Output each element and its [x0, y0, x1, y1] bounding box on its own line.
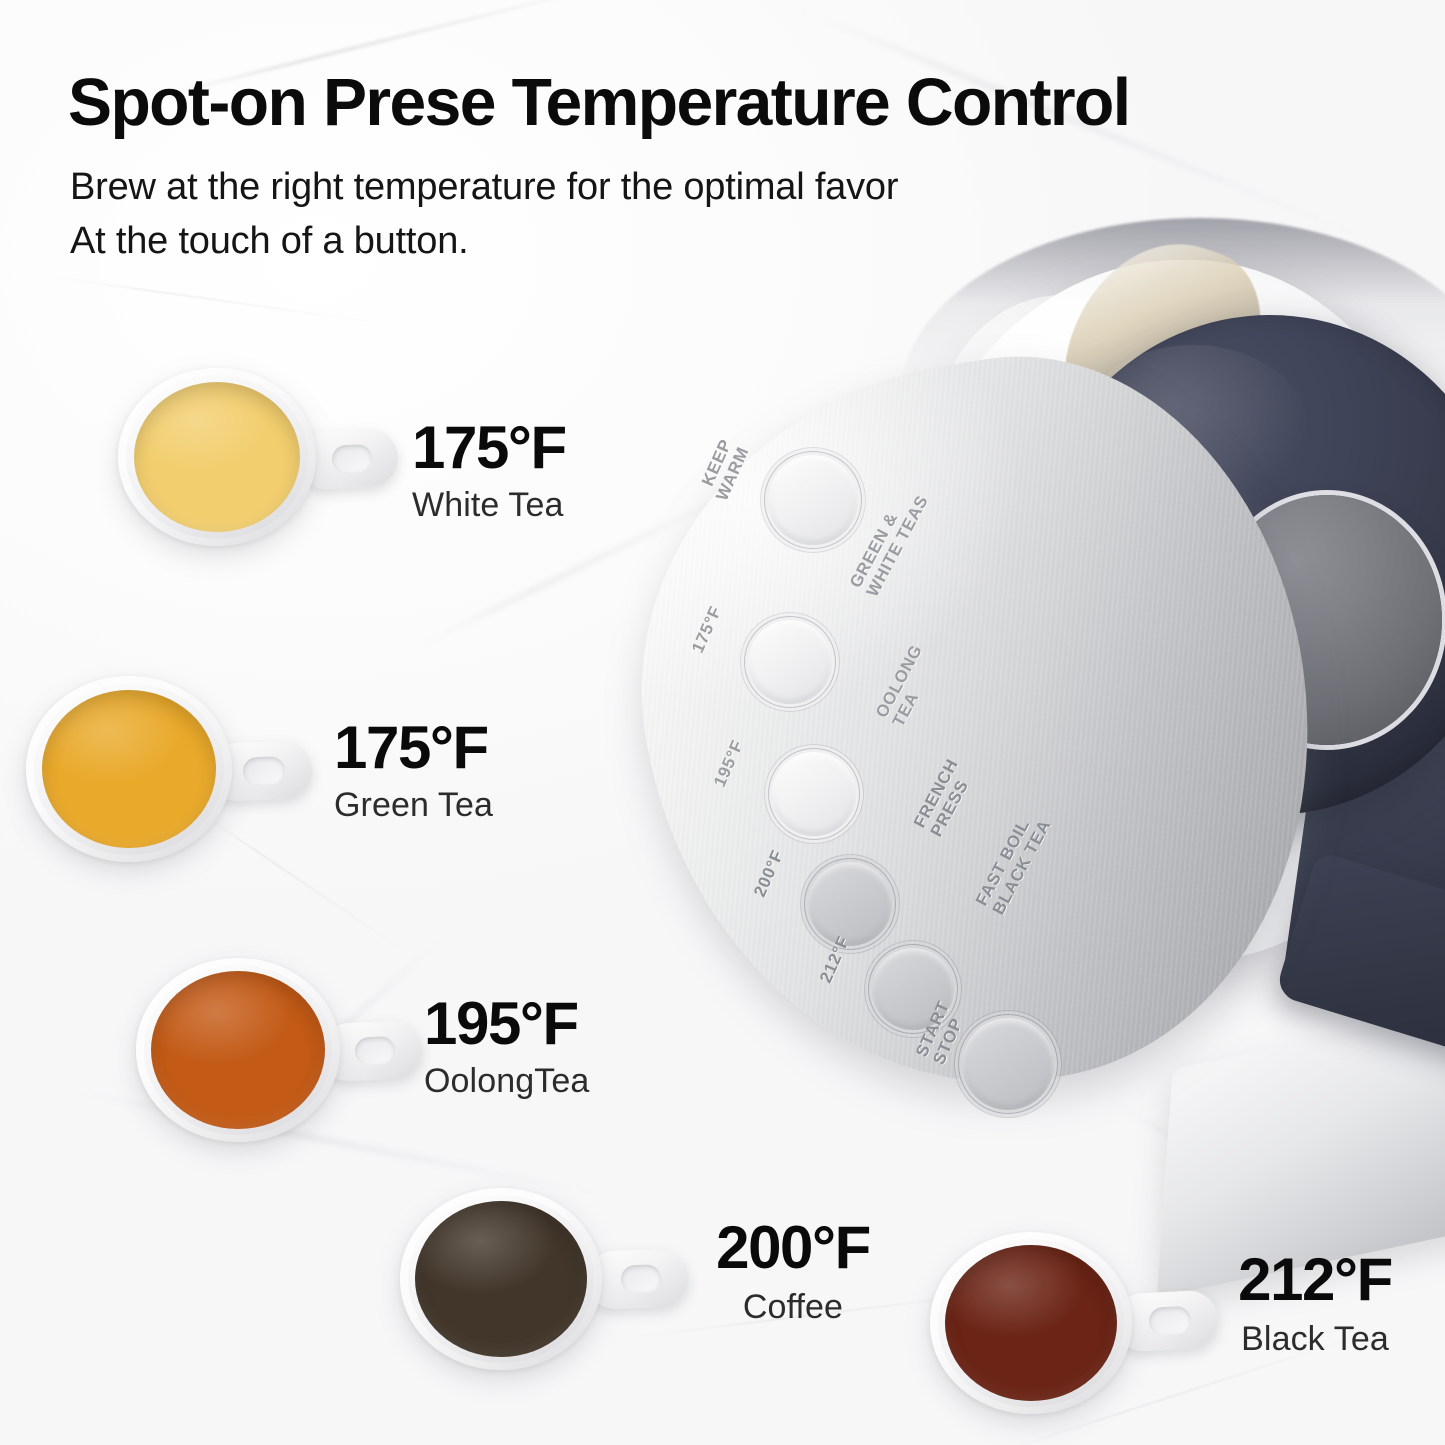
button-start-stop[interactable] [962, 1018, 1054, 1110]
temperature-value: 175°F [334, 718, 493, 778]
beverage-name: Coffee [668, 1290, 918, 1324]
beverage-name: Green Tea [334, 788, 493, 822]
temperature-value: 200°F [668, 1218, 918, 1278]
cup-liquid [151, 971, 325, 1129]
product-marketing-image: Spot-on Prese Temperature Control Brew a… [0, 0, 1445, 1445]
beverage-name: Black Tea [1190, 1322, 1440, 1356]
cup-liquid [42, 690, 216, 848]
temperature-value: 175°F [412, 418, 566, 478]
cup-liquid [945, 1245, 1117, 1401]
label-oolong-tea: 195°F OolongTea [424, 994, 589, 1098]
cup-liquid [415, 1201, 587, 1357]
cup-oolong-tea [128, 958, 428, 1148]
button-oolong-tea[interactable] [772, 752, 856, 836]
cup-green-tea [18, 676, 318, 866]
electric-kettle: KEEP WARM 175°F GREEN & WHITE TEAS 195°F… [600, 200, 1445, 1200]
label-coffee: 200°F Coffee [668, 1218, 918, 1324]
cup-black-tea [922, 1232, 1222, 1422]
cup-white-tea [110, 368, 410, 548]
label-black-tea: 212°F Black Tea [1190, 1250, 1440, 1356]
button-fast-boil-black-tea[interactable] [872, 948, 954, 1030]
temperature-value: 195°F [424, 994, 589, 1054]
button-french-press[interactable] [808, 862, 892, 946]
label-white-tea: 175°F White Tea [412, 418, 566, 522]
page-title: Spot-on Prese Temperature Control [68, 68, 1388, 138]
beverage-name: White Tea [412, 488, 566, 522]
temperature-value: 212°F [1190, 1250, 1440, 1310]
beverage-name: OolongTea [424, 1064, 589, 1098]
cup-coffee [392, 1188, 692, 1378]
button-keep-warm[interactable] [768, 455, 858, 545]
cup-liquid [134, 382, 300, 532]
button-green-white-teas[interactable] [748, 620, 832, 704]
label-green-tea: 175°F Green Tea [334, 718, 493, 822]
